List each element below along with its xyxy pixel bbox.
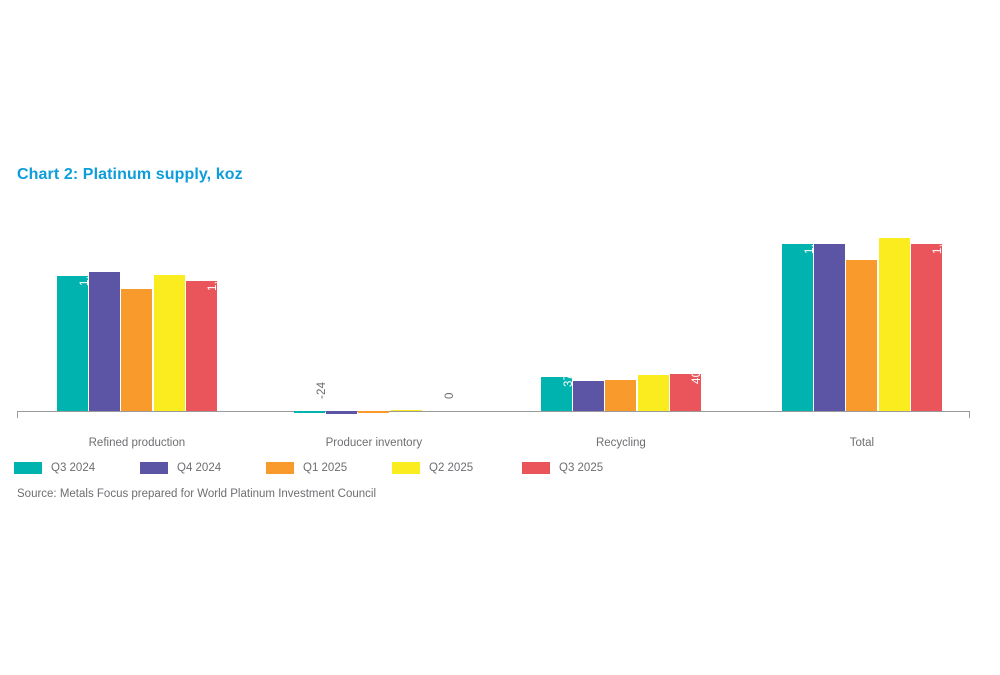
bar-value-label: 1,403: [207, 262, 219, 292]
bar: [782, 244, 813, 411]
source-note: Source: Metals Focus prepared for World …: [17, 488, 376, 500]
bar: [911, 244, 942, 411]
bar: [294, 411, 325, 413]
bar: [358, 411, 389, 413]
legend-label: Q1 2025: [303, 462, 347, 474]
bar: [89, 272, 120, 411]
legend-item[interactable]: Q3 2025: [522, 462, 603, 474]
bar: [879, 238, 910, 411]
legend-label: Q4 2024: [177, 462, 221, 474]
x-axis-tick-left: [17, 412, 18, 418]
chart-container: Chart 2: Platinum supply, koz 1,4591,403…: [0, 0, 1000, 675]
category-label: Recycling: [596, 437, 646, 449]
legend-swatch-icon: [140, 462, 168, 474]
legend-item[interactable]: Q3 2024: [14, 462, 95, 474]
legend-swatch-icon: [14, 462, 42, 474]
bar-value-label: 1,803: [932, 225, 944, 255]
bar-value-label: 400: [691, 364, 703, 384]
category-label: Total: [850, 437, 874, 449]
legend-label: Q3 2024: [51, 462, 95, 474]
bar: [605, 380, 636, 411]
x-axis-line: [17, 411, 970, 412]
category-label: Refined production: [89, 437, 186, 449]
bar: [154, 275, 185, 411]
bar-value-label: 0: [444, 392, 456, 399]
bar: [638, 375, 669, 411]
bar-value-label: -24: [316, 382, 328, 399]
bar: [814, 244, 845, 411]
legend-swatch-icon: [266, 462, 294, 474]
bar: [186, 281, 217, 411]
legend-item[interactable]: Q2 2025: [392, 462, 473, 474]
bar: [573, 381, 604, 411]
bar: [57, 276, 88, 411]
category-label: Producer inventory: [326, 437, 423, 449]
x-axis-tick-right: [969, 412, 970, 418]
bar: [326, 411, 357, 414]
legend-swatch-icon: [392, 462, 420, 474]
legend-label: Q3 2025: [559, 462, 603, 474]
bar: [846, 260, 877, 411]
legend-item[interactable]: Q4 2024: [140, 462, 221, 474]
bar: [391, 410, 422, 412]
legend-label: Q2 2025: [429, 462, 473, 474]
legend-item[interactable]: Q1 2025: [266, 462, 347, 474]
chart-title: Chart 2: Platinum supply, koz: [17, 166, 243, 184]
bar: [121, 289, 152, 411]
legend-swatch-icon: [522, 462, 550, 474]
